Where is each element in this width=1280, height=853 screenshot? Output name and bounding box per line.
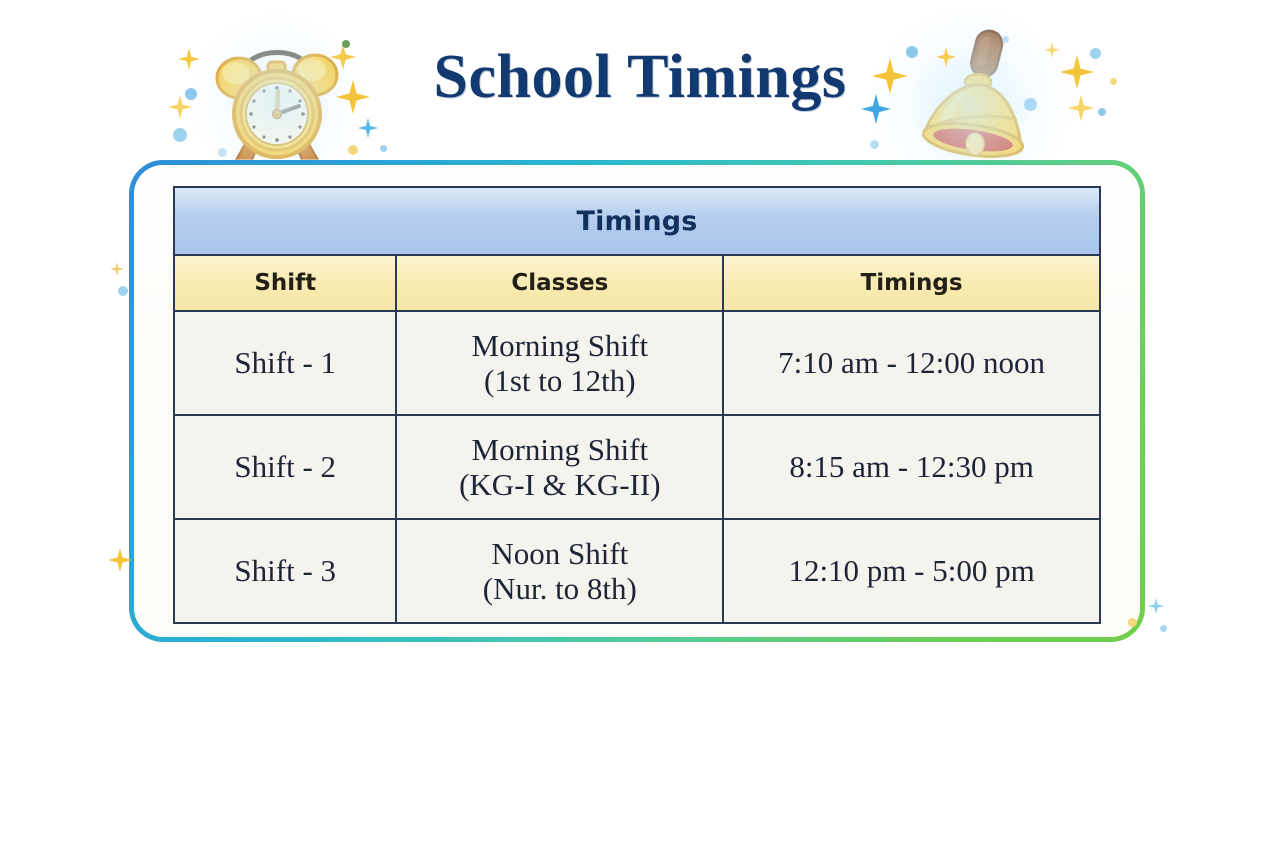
cell-shift: Shift - 3 — [174, 519, 396, 623]
table-caption: Timings — [174, 187, 1100, 255]
table-row: Shift - 1 Morning Shift (1st to 12th) 7:… — [174, 311, 1100, 415]
cell-classes-line2: (1st to 12th) — [403, 363, 716, 398]
cell-timing: 7:10 am - 12:00 noon — [723, 311, 1100, 415]
timings-card-inner: Timings Shift Classes Timings Shift - 1 … — [134, 165, 1140, 637]
table-column-header-row: Shift Classes Timings — [174, 255, 1100, 311]
table-caption-row: Timings — [174, 187, 1100, 255]
decor-dot — [1160, 625, 1167, 632]
school-timings-table: Timings Shift Classes Timings Shift - 1 … — [173, 186, 1101, 624]
school-bell-icon — [905, 24, 1035, 169]
sparkle-icon — [110, 262, 124, 276]
cell-timing: 12:10 pm - 5:00 pm — [723, 519, 1100, 623]
table-row: Shift - 2 Morning Shift (KG-I & KG-II) 8… — [174, 415, 1100, 519]
cell-classes: Morning Shift (1st to 12th) — [396, 311, 723, 415]
cell-shift: Shift - 1 — [174, 311, 396, 415]
sparkle-icon — [1148, 598, 1164, 614]
table-row: Shift - 3 Noon Shift (Nur. to 8th) 12:10… — [174, 519, 1100, 623]
header-band: School Timings — [0, 0, 1280, 170]
cell-classes-line1: Morning Shift — [403, 328, 716, 363]
page-title: School Timings — [0, 42, 1280, 113]
column-header-classes: Classes — [396, 255, 723, 311]
cell-timing: 8:15 am - 12:30 pm — [723, 415, 1100, 519]
timings-card: Timings Shift Classes Timings Shift - 1 … — [129, 160, 1145, 642]
cell-classes-line1: Noon Shift — [403, 536, 716, 571]
decor-dot — [173, 128, 187, 142]
cell-classes-line1: Morning Shift — [403, 432, 716, 467]
cell-classes: Morning Shift (KG-I & KG-II) — [396, 415, 723, 519]
column-header-timings: Timings — [723, 255, 1100, 311]
cell-classes-line2: (KG-I & KG-II) — [403, 467, 716, 502]
column-header-shift: Shift — [174, 255, 396, 311]
cell-classes-line2: (Nur. to 8th) — [403, 571, 716, 606]
decor-dot — [118, 286, 128, 296]
cell-shift: Shift - 2 — [174, 415, 396, 519]
cell-classes: Noon Shift (Nur. to 8th) — [396, 519, 723, 623]
decor-dot — [380, 145, 387, 152]
